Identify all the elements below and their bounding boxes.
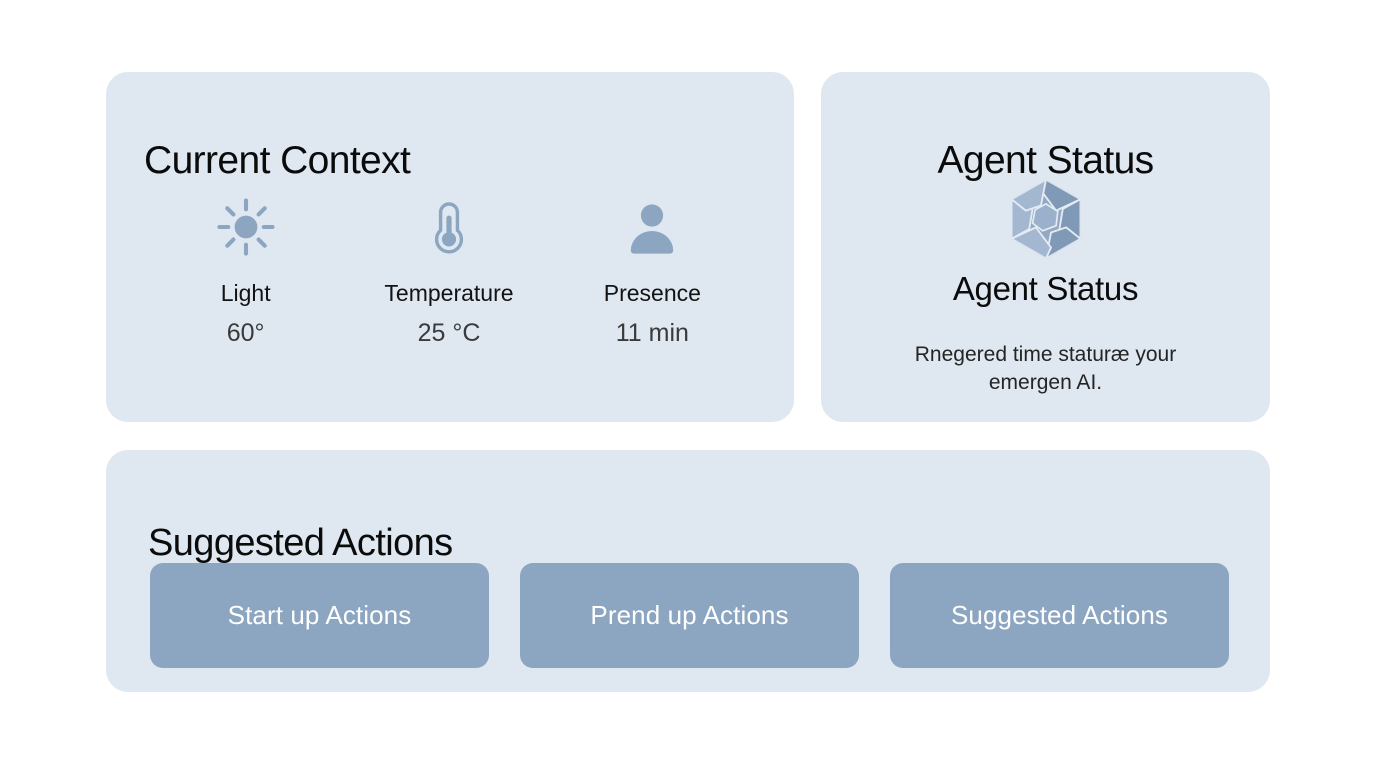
agent-description: Rnegered time staturæ your emergen AI. <box>883 341 1208 398</box>
person-icon <box>621 196 683 258</box>
metric-presence: Presence 11 min <box>551 196 754 346</box>
current-context-title: Current Context <box>144 141 410 180</box>
suggested-actions-button-row: Start up Actions Prend up Actions Sugges… <box>150 563 1230 668</box>
metric-presence-value: 11 min <box>616 321 689 346</box>
metric-temperature: Temperature 25 °C <box>347 196 550 346</box>
action-button-suggested[interactable]: Suggested Actions <box>890 563 1229 668</box>
metric-temperature-label: Temperature <box>384 282 513 305</box>
app-root: Current Context <box>0 0 1376 768</box>
metric-temperature-value: 25 °C <box>418 321 481 346</box>
hexagon-aperture-logo-icon <box>821 177 1270 261</box>
metric-light: Light 60° <box>144 196 347 346</box>
action-button-start-up[interactable]: Start up Actions <box>150 563 489 668</box>
current-context-card: Current Context <box>106 72 794 422</box>
context-metrics-row: Light 60° Temperature 25 °C <box>144 196 754 346</box>
suggested-actions-card: Suggested Actions Start up Actions Prend… <box>106 450 1270 692</box>
metric-light-label: Light <box>221 282 271 305</box>
action-button-prend-up[interactable]: Prend up Actions <box>520 563 859 668</box>
agent-name: Agent Status <box>821 272 1270 305</box>
suggested-actions-title: Suggested Actions <box>148 524 453 562</box>
sun-icon <box>215 196 277 258</box>
agent-status-title: Agent Status <box>821 141 1270 180</box>
thermometer-icon <box>418 196 480 258</box>
metric-presence-label: Presence <box>604 282 701 305</box>
agent-status-card: Agent Status <box>821 72 1270 422</box>
metric-light-value: 60° <box>227 321 265 346</box>
